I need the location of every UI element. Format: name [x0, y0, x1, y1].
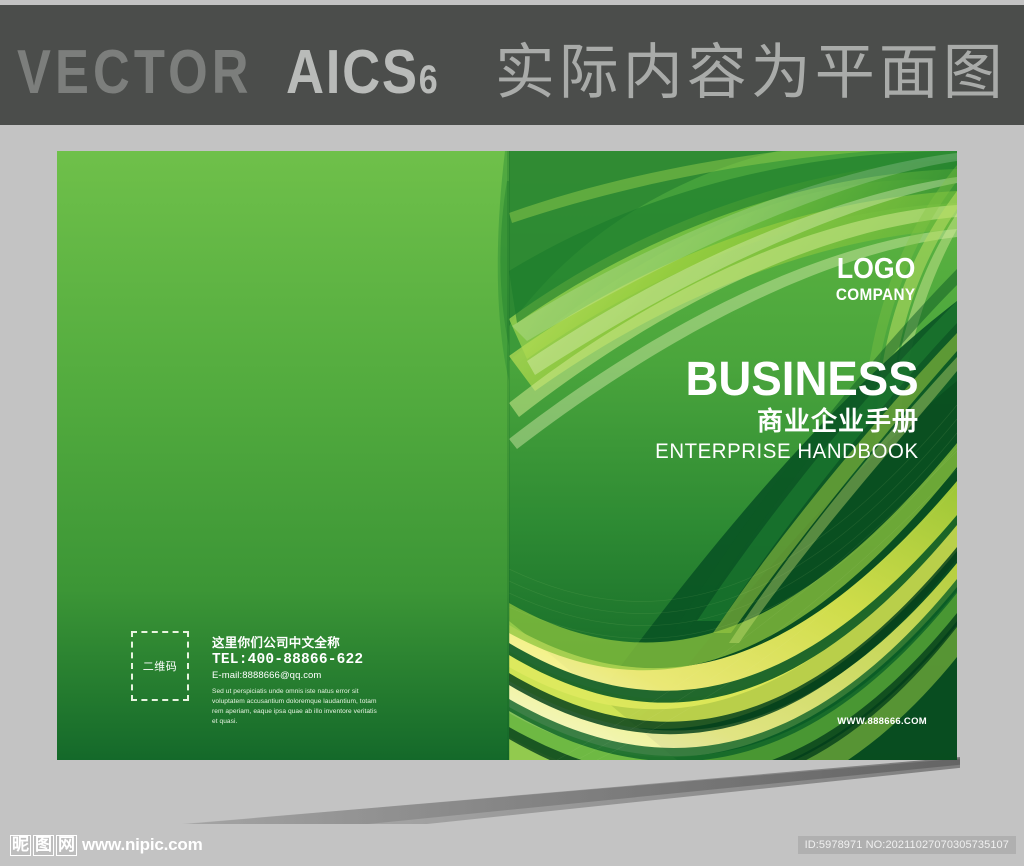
watermark-note-cn: 实际内容为平面图 — [495, 24, 1007, 111]
contact-block: 这里你们公司中文全称 TEL:400-88866-622 E-mail:8888… — [212, 636, 412, 728]
nipic-logo-char-1: 昵 — [10, 835, 31, 856]
cover-logo-block: LOGO COMPANY — [827, 255, 915, 303]
title-subtitle-en: ENTERPRISE HANDBOOK — [656, 441, 919, 462]
contact-description-text: Sed ut perspiciatis unde omnis iste natu… — [212, 687, 377, 728]
nipic-url-text: www.nipic.com — [82, 835, 203, 855]
logo-company-text: COMPANY — [835, 286, 915, 303]
vector-label: VECTOR — [17, 37, 253, 108]
title-subtitle-cn: 商业企业手册 — [647, 409, 919, 435]
nipic-logo-cn: 昵图网 — [10, 835, 77, 856]
cover-title-block: BUSINESS 商业企业手册 ENTERPRISE HANDBOOK — [647, 356, 919, 462]
contact-company-name: 这里你们公司中文全称 — [212, 636, 412, 650]
contact-telephone: TEL:400-88866-622 — [212, 653, 412, 669]
nipic-logo-char-3: 网 — [56, 835, 77, 856]
format-label: AICS6 — [286, 37, 439, 108]
contact-email: E-mail:8888666@qq.com — [212, 671, 412, 681]
cover-website-text: WWW.888666.COM — [837, 716, 927, 727]
brochure-cover-artwork: LOGO COMPANY BUSINESS 商业企业手册 ENTERPRISE … — [57, 151, 957, 760]
title-headline: BUSINESS — [661, 356, 919, 404]
asset-id-badge: ID:5978971 NO:20211027070305735107 — [798, 836, 1016, 854]
screenshot-root: VECTOR AICS6 实际内容为平面图 — [0, 0, 1024, 866]
watermark-band: VECTOR AICS6 实际内容为平面图 — [0, 5, 1024, 125]
format-version: 6 — [419, 58, 440, 102]
qr-code-placeholder: 二维码 — [131, 631, 189, 701]
watermark-band-inner: VECTOR AICS6 实际内容为平面图 — [17, 24, 1007, 111]
qr-code-label: 二维码 — [143, 658, 178, 674]
site-footer: 昵图网 www.nipic.com ID:5978971 NO:20211027… — [0, 824, 1024, 866]
nipic-logo[interactable]: 昵图网 www.nipic.com — [10, 835, 203, 856]
logo-text: LOGO — [834, 255, 915, 284]
nipic-logo-char-2: 图 — [33, 835, 54, 856]
